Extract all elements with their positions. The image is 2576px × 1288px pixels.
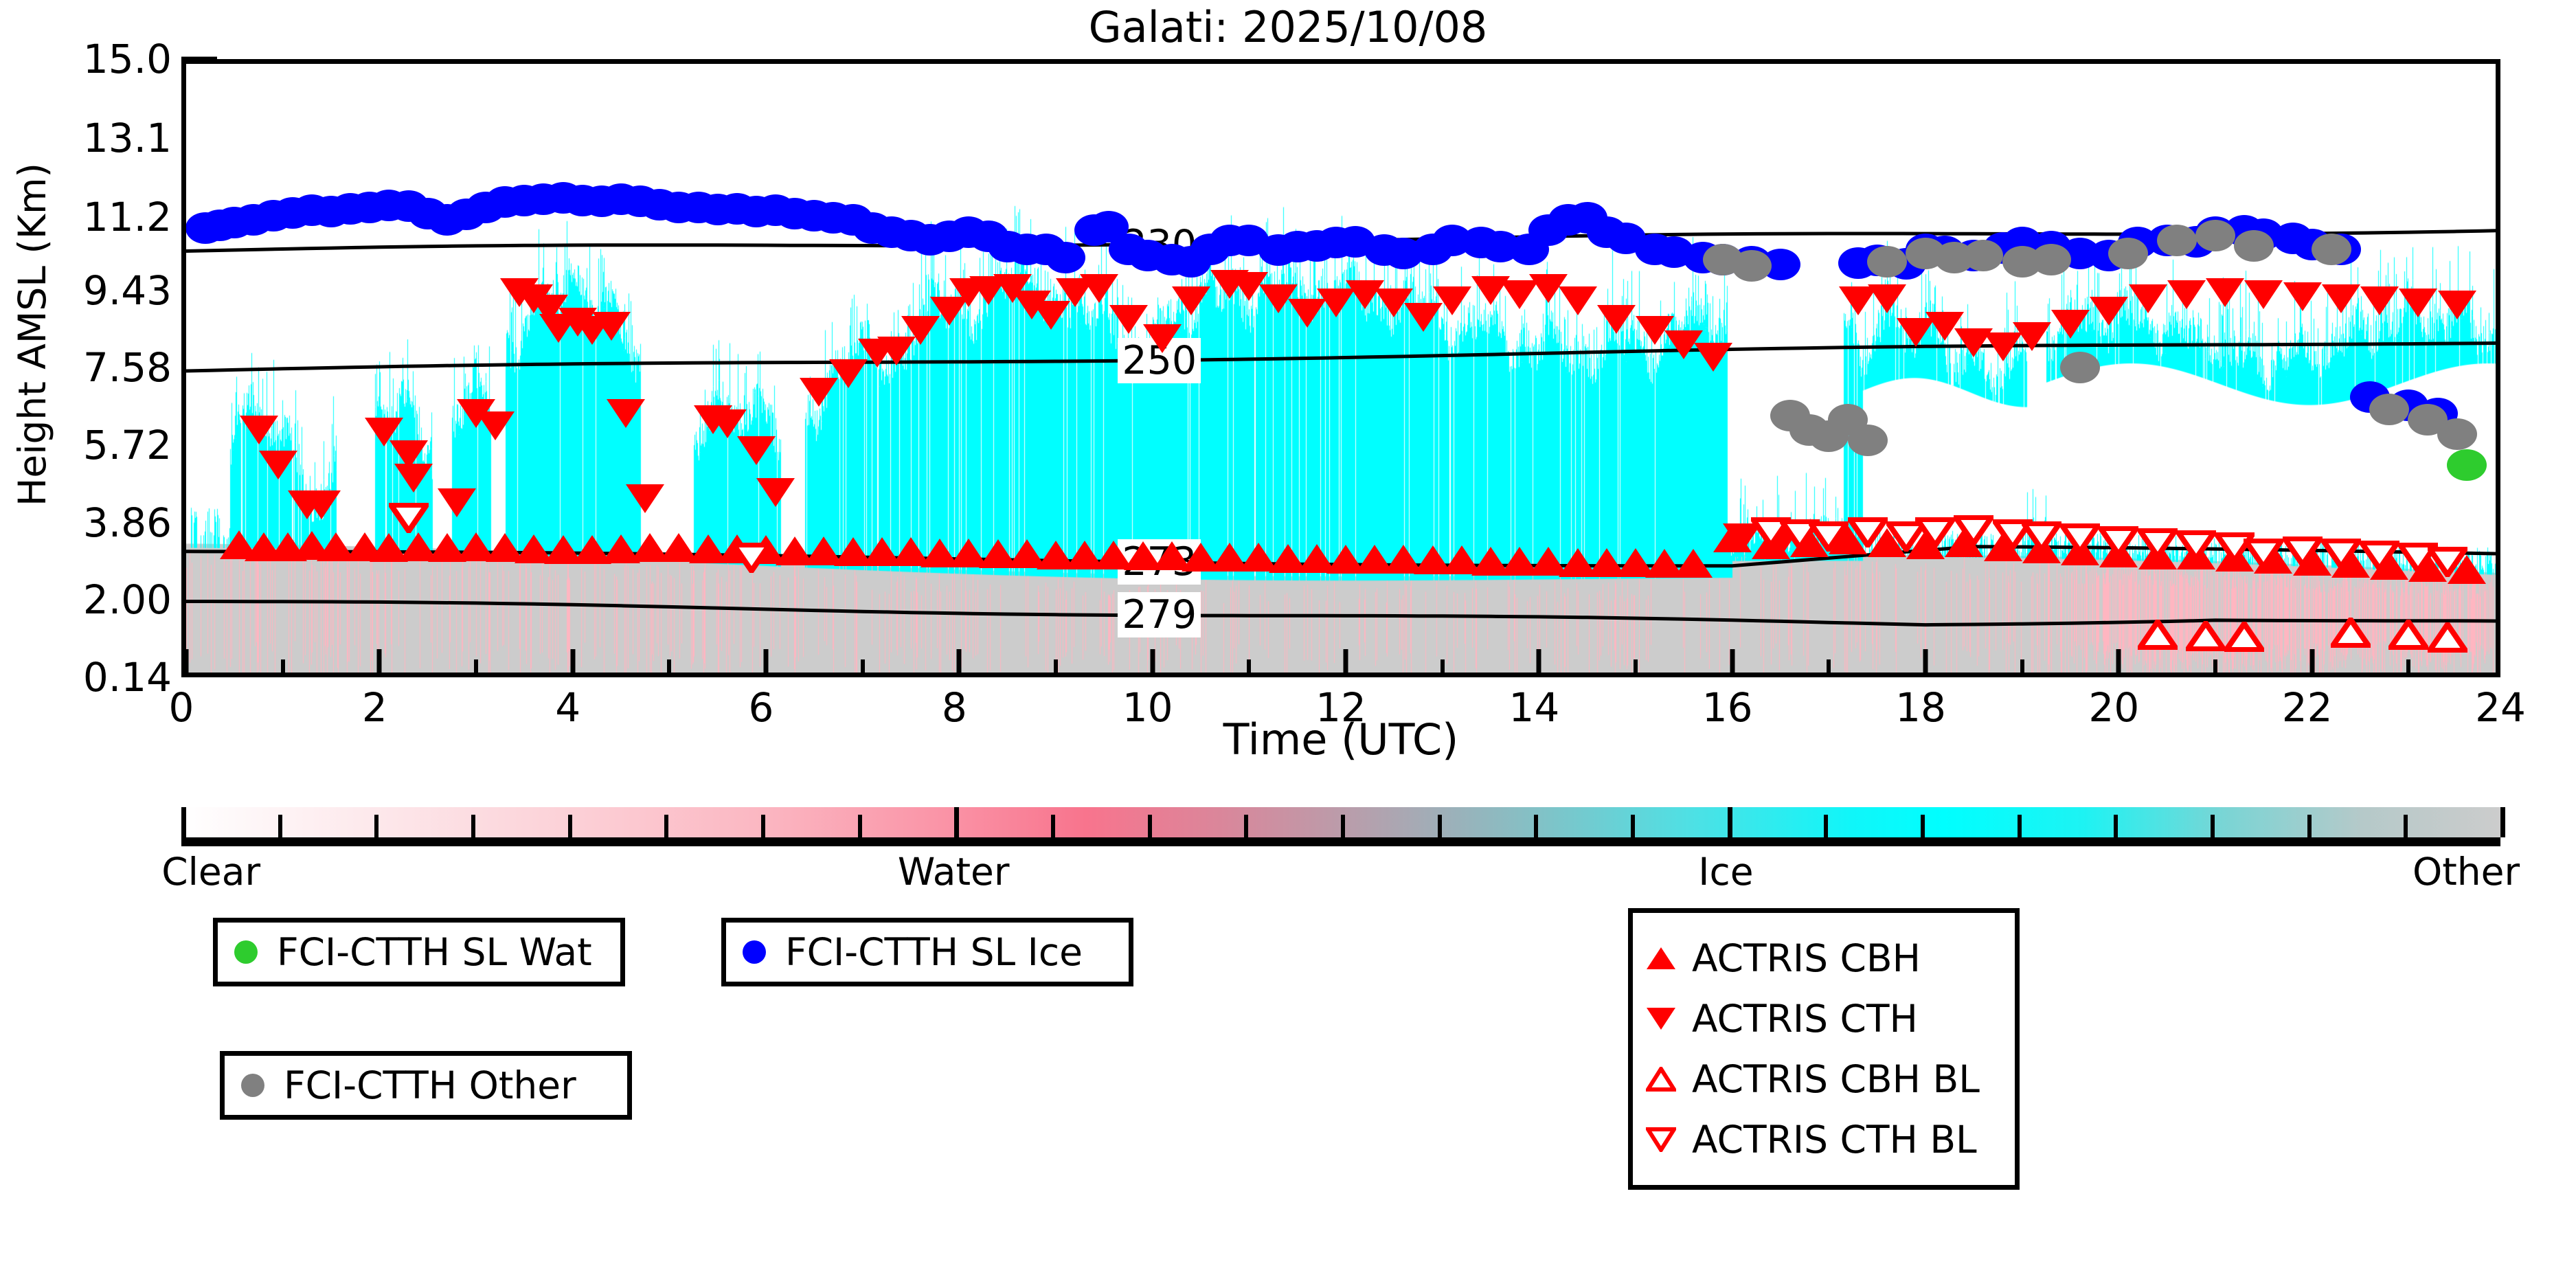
data-point-triangle-down-open (2360, 541, 2399, 574)
legend-marker-circle (230, 936, 262, 968)
data-point-triangle-down-open (2321, 539, 2361, 572)
data-point-triangle-down-open (2244, 539, 2283, 572)
data-point-triangle-down (259, 451, 297, 479)
data-point-triangle-down (1080, 274, 1118, 303)
x-tick-mark-minor (1247, 659, 1251, 673)
x-tick-mark (2309, 649, 2314, 673)
legend-entry-label: ACTRIS CBH BL (1692, 1057, 1980, 1101)
x-tick-label: 16 (1702, 684, 1753, 731)
data-point-triangle-up-open (2331, 618, 2371, 651)
x-tick-label: 12 (1315, 684, 1366, 731)
x-tick-mark-minor (1827, 659, 1831, 673)
data-point-triangle-down (626, 484, 664, 513)
colorbar-tick (2018, 815, 2022, 837)
data-point-triangle-up-open (2138, 620, 2178, 653)
legend-entry-label: FCI-CTTH SL Ice (785, 930, 1083, 974)
data-point-triangle-down-open (2099, 526, 2138, 559)
data-point-triangle-down (2283, 282, 2322, 311)
y-tick-label: 11.2 (0, 194, 172, 240)
colorbar-tick (1148, 815, 1152, 837)
legend-entry[interactable]: ACTRIS CBH BL (1633, 1049, 2015, 1109)
x-tick-mark-minor (667, 659, 671, 673)
data-point-triangle-down (2090, 297, 2128, 326)
y-tick-label: 2.00 (0, 576, 172, 623)
data-point-triangle-down (708, 409, 747, 438)
data-point-triangle-up-open (2388, 620, 2428, 653)
colorbar-tick (278, 815, 282, 837)
data-point-triangle-down (476, 411, 515, 440)
data-point-triangle-down (1109, 305, 1148, 334)
data-point-triangle-down-open (1848, 517, 1888, 550)
data-point-triangle-down (2399, 289, 2437, 317)
data-point-triangle-down (2438, 291, 2476, 319)
legend-entry-label: ACTRIS CTH BL (1692, 1118, 1977, 1162)
y-tick-label: 5.72 (0, 422, 172, 468)
x-tick-label: 4 (555, 684, 580, 731)
x-tick-mark-minor (2020, 659, 2024, 673)
colorbar-tick (1438, 815, 1442, 837)
legend-marker-triangle-down (1645, 1003, 1677, 1035)
colorbar-label: Ice (1698, 850, 1753, 894)
x-tick-mark (1537, 649, 1541, 673)
x-tick-mark-minor (1634, 659, 1638, 673)
x-tick-label: 20 (2088, 684, 2139, 731)
data-point-circle (2234, 230, 2274, 262)
data-point-triangle-down (1172, 286, 1210, 315)
legend-entry-label: ACTRIS CTH (1692, 997, 1918, 1041)
data-point-circle (1867, 246, 1907, 278)
data-point-triangle-up (1674, 549, 1713, 578)
legend-marker-triangle-up (1645, 942, 1677, 974)
data-point-triangle-down (302, 490, 341, 519)
colorbar-label: Water (898, 850, 1010, 894)
legend-entry[interactable]: FCI-CTTH Other (225, 1056, 627, 1115)
colorbar-axis-line (181, 837, 2500, 846)
x-tick-mark (957, 649, 962, 673)
x-tick-label: 0 (169, 684, 194, 731)
x-tick-mark-minor (861, 659, 865, 673)
data-point-triangle-down (2051, 310, 2090, 339)
data-point-circle (1848, 425, 1888, 456)
colorbar-label: Other (2413, 850, 2520, 894)
legend-marker-circle (738, 936, 770, 968)
colorbar-tick (761, 815, 765, 837)
y-tick-label: 7.58 (0, 344, 172, 391)
data-point-triangle-down (607, 399, 645, 428)
data-point-triangle-down (438, 488, 476, 517)
colorbar-tick (1534, 815, 1538, 837)
data-series-layer (186, 64, 2496, 673)
data-point-triangle-down (2129, 284, 2167, 313)
x-tick-mark (1150, 649, 1155, 673)
colorbar-tick (471, 815, 475, 837)
x-tick-mark-minor (1054, 659, 1058, 673)
data-point-triangle-up-open (2224, 622, 2264, 655)
legend-fci-ctth-sl-wat[interactable]: FCI-CTTH SL Wat (213, 918, 625, 986)
legend-entry-label: FCI-CTTH Other (284, 1063, 576, 1107)
data-point-triangle-down (2013, 322, 2051, 351)
data-point-triangle-down-open (1954, 515, 1993, 548)
x-tick-label: 10 (1122, 684, 1173, 731)
y-tick-label: 15.0 (0, 36, 172, 82)
legend-entry[interactable]: FCI-CTTH SL Ice (726, 923, 1129, 982)
data-point-circle (2195, 220, 2235, 251)
colorbar-tick (2211, 815, 2215, 837)
data-point-triangle-down (1433, 286, 1471, 315)
x-tick-mark (184, 649, 189, 673)
data-point-triangle-up (1713, 523, 1752, 552)
x-tick-label: 24 (2475, 684, 2526, 731)
legend-marker-triangle-up-open (1645, 1063, 1677, 1095)
data-point-triangle-down-open (2283, 536, 2323, 569)
legend-entry-label: ACTRIS CBH (1692, 936, 1921, 980)
data-point-triangle-down-open (1915, 517, 1955, 550)
data-point-circle (2312, 234, 2351, 265)
data-point-triangle-up-open (2428, 622, 2467, 655)
colorbar-tick (374, 815, 379, 837)
legend-marker-circle (237, 1070, 269, 1101)
data-point-circle (2157, 225, 2197, 256)
data-point-triangle-down (1143, 324, 1182, 353)
page-title: Galati: 2025/10/08 (0, 2, 2576, 52)
data-point-triangle-down (240, 416, 278, 444)
data-point-triangle-down (394, 464, 433, 493)
y-tick-label: 3.86 (0, 499, 172, 546)
colorbar-tick (1051, 815, 1055, 837)
data-point-circle (2031, 244, 2071, 275)
x-tick-mark (570, 649, 575, 673)
data-point-triangle-down (2206, 278, 2244, 307)
x-tick-label: 8 (942, 684, 967, 731)
data-point-triangle-down-open (2138, 528, 2178, 561)
colorbar-tick (1921, 815, 1925, 837)
x-tick-mark (764, 649, 769, 673)
plot-clip: 230250273279 (186, 64, 2496, 673)
legend-marker-triangle-down-open (1645, 1124, 1677, 1155)
legend-actris[interactable]: ACTRIS CBHACTRIS CTHACTRIS CBH BLACTRIS … (1628, 908, 2020, 1190)
legend-entry[interactable]: ACTRIS CTH (1633, 988, 2015, 1049)
data-point-triangle-down (1559, 286, 1597, 315)
data-point-circle (1046, 242, 1085, 273)
data-point-circle (2437, 418, 2477, 450)
data-point-circle (2447, 449, 2487, 481)
data-point-circle (1732, 250, 1772, 282)
colorbar-tick (1728, 807, 1732, 837)
legend-fci-ctth-sl-ice[interactable]: FCI-CTTH SL Ice (721, 918, 1133, 986)
data-point-triangle-down (2167, 280, 2206, 309)
x-tick-label: 22 (2282, 684, 2333, 731)
figure-canvas: Galati: 2025/10/08 Height AMSL (Km) Time… (0, 0, 2576, 1288)
data-point-triangle-up-open (2186, 621, 2226, 654)
legend-entry[interactable]: ACTRIS CBH (1633, 928, 2015, 988)
colorbar-tick (1631, 815, 1635, 837)
data-point-triangle-down (1868, 284, 1906, 313)
plot-area[interactable]: 230250273279 (181, 59, 2500, 677)
x-tick-label: 6 (749, 684, 774, 731)
x-tick-mark (2116, 649, 2121, 673)
y-tick-label: 13.1 (0, 115, 172, 161)
data-point-circle (2108, 238, 2148, 269)
data-point-triangle-down (2360, 286, 2399, 315)
data-point-triangle-down (756, 478, 795, 507)
data-point-triangle-down-open (732, 543, 771, 576)
x-tick-label: 18 (1895, 684, 1946, 731)
x-tick-label: 14 (1509, 684, 1559, 731)
colorbar-tick (568, 815, 572, 837)
legend-entry[interactable]: FCI-CTTH SL Wat (218, 923, 620, 982)
x-tick-mark-minor (281, 659, 285, 673)
x-tick-mark (1344, 649, 1348, 673)
data-point-triangle-down (592, 312, 631, 341)
data-point-triangle-down-open (2176, 530, 2216, 563)
colorbar-tick (1824, 815, 1828, 837)
legend-fci-ctth-other[interactable]: FCI-CTTH Other (220, 1051, 632, 1120)
y-tick-label: 9.43 (0, 267, 172, 314)
data-point-triangle-down-open (2022, 521, 2061, 554)
colorbar-tick (2114, 815, 2118, 837)
colorbar-tick (181, 807, 186, 837)
data-point-circle (2369, 394, 2409, 425)
colorbar-tick (2500, 807, 2505, 837)
colorbar-tick (1341, 815, 1345, 837)
x-tick-label: 2 (362, 684, 387, 731)
colorbar-tick (1244, 815, 1248, 837)
data-point-circle (2060, 352, 2100, 383)
legend-entry-label: FCI-CTTH SL Wat (277, 930, 592, 974)
data-point-triangle-down (2322, 284, 2360, 313)
colorbar-label: Clear (161, 850, 260, 894)
data-point-triangle-down-open (389, 503, 429, 536)
x-tick-mark (377, 649, 382, 673)
y-tick-label: 0.14 (0, 654, 172, 701)
data-point-triangle-down-open (1809, 521, 1849, 554)
x-tick-mark-minor (2213, 659, 2217, 673)
data-point-triangle-down (737, 436, 776, 465)
colorbar-tick (858, 815, 862, 837)
data-point-triangle-down (1597, 305, 1636, 334)
x-tick-mark (1923, 649, 1928, 673)
colorbar-tick (954, 807, 959, 837)
legend-entry[interactable]: ACTRIS CTH BL (1633, 1109, 2015, 1170)
colorbar-tick (2404, 815, 2408, 837)
x-tick-mark-minor (2406, 659, 2410, 673)
data-point-triangle-down (2244, 280, 2283, 309)
x-tick-mark (1730, 649, 1735, 673)
colorbar-tick (664, 815, 668, 837)
data-point-triangle-down-open (2428, 547, 2467, 580)
data-point-triangle-down-open (2060, 523, 2100, 556)
y-axis-title: Height AMSL (Km) (10, 115, 54, 554)
x-tick-mark-minor (474, 659, 478, 673)
data-point-triangle-down (1694, 343, 1732, 372)
data-point-circle (1963, 240, 2003, 271)
colorbar-tick (2307, 815, 2312, 837)
x-tick-mark-minor (1440, 659, 1445, 673)
